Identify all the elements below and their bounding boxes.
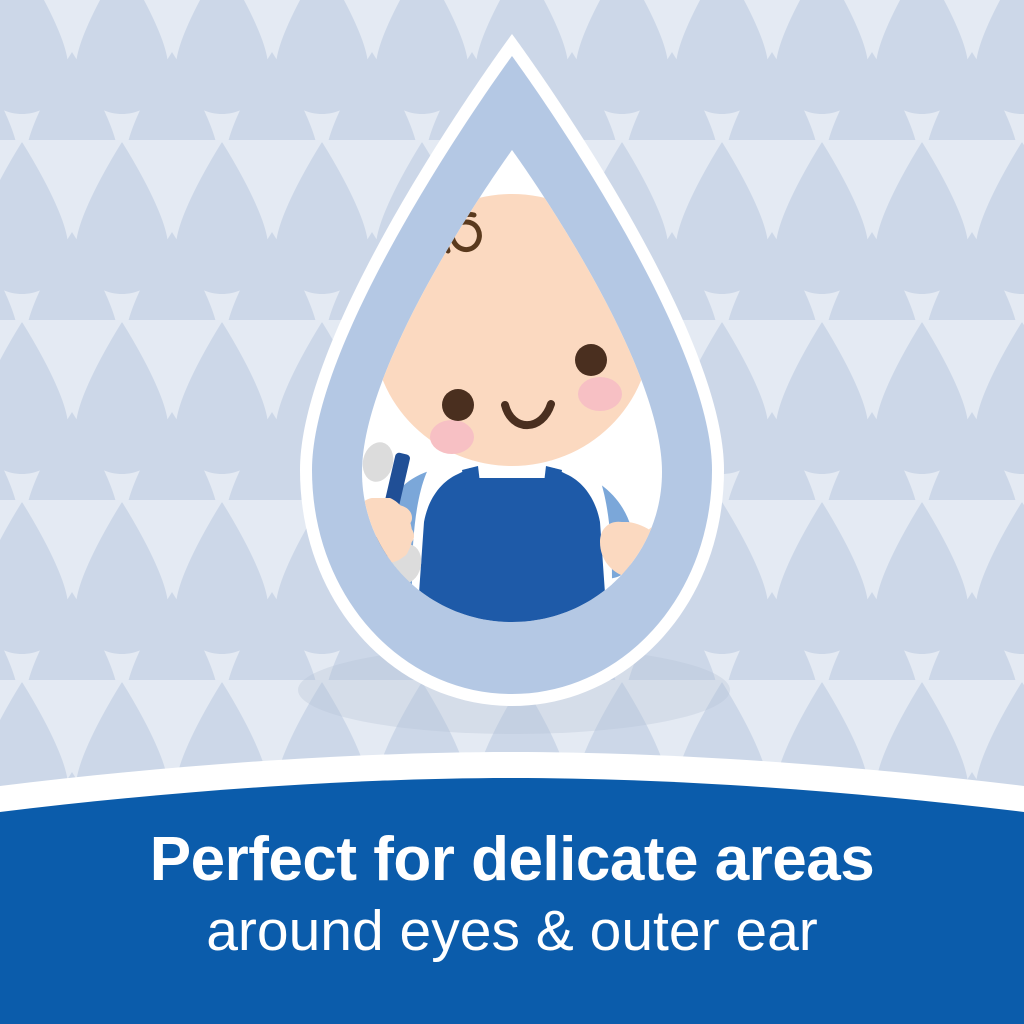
bottom-banner [0,0,1024,1024]
product-promo-image: Perfect for delicate areas around eyes &… [0,0,1024,1024]
banner-fill [0,778,1024,1024]
